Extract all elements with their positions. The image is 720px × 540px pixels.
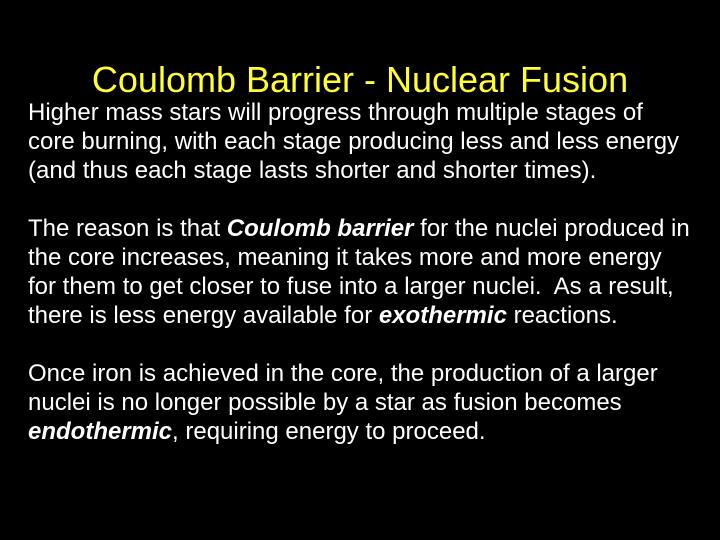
presentation-slide: Coulomb Barrier - Nuclear Fusion Higher … bbox=[0, 0, 720, 540]
slide-title: Coulomb Barrier - Nuclear Fusion bbox=[0, 58, 720, 102]
text-run: Once iron is achieved in the core, the p… bbox=[28, 360, 664, 416]
emphasis-term: exothermic bbox=[379, 302, 507, 329]
emphasis-term: Coulomb barrier bbox=[227, 215, 414, 242]
body-paragraph-1: Higher mass stars will progress through … bbox=[28, 98, 696, 185]
body-paragraph-3: Once iron is achieved in the core, the p… bbox=[28, 359, 696, 446]
text-run: The reason is that bbox=[28, 215, 227, 242]
text-run: reactions. bbox=[507, 302, 618, 329]
body-paragraph-2: The reason is that Coulomb barrier for t… bbox=[28, 214, 696, 330]
emphasis-term: endothermic bbox=[28, 418, 172, 445]
slide-body: Higher mass stars will progress through … bbox=[28, 98, 696, 446]
text-run: Higher mass stars will progress through … bbox=[28, 99, 686, 184]
text-run: , requiring energy to proceed. bbox=[172, 418, 486, 445]
